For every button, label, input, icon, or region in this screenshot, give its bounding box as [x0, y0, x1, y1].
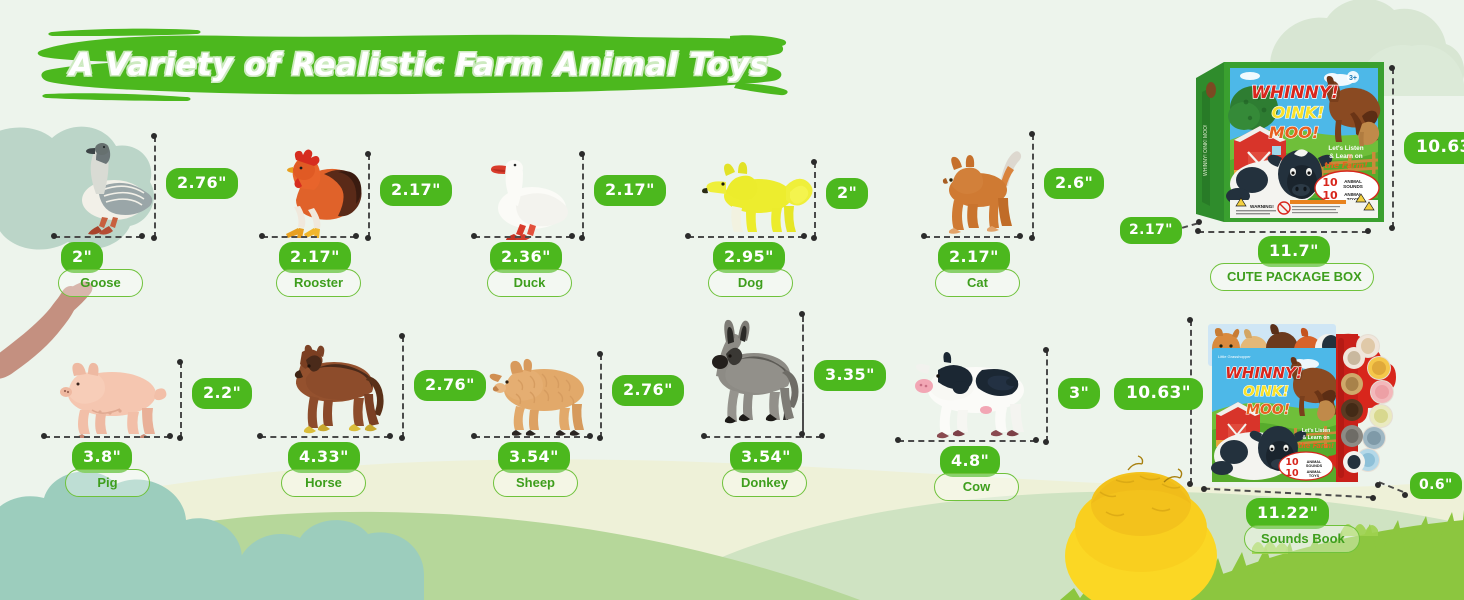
width-guide-sheep: [474, 436, 590, 438]
width-guide-duck: [474, 236, 572, 238]
guide-dot: [1187, 481, 1193, 487]
svg-text:WHINNY!: WHINNY!: [1225, 364, 1303, 382]
guide-dot: [1370, 495, 1376, 501]
svg-text:10: 10: [1322, 176, 1338, 189]
guide-dot: [177, 435, 183, 441]
goose-figure: [68, 138, 154, 236]
height-badge-goose: 2.76": [166, 168, 238, 199]
width-guide-horse: [260, 436, 390, 438]
sound-button-panel: [1328, 334, 1396, 482]
height-badge-pig: 2.2": [192, 378, 252, 409]
svg-text:SOUNDS: SOUNDS: [1306, 464, 1323, 468]
svg-text:OINK!: OINK!: [1243, 384, 1289, 400]
guide-dot: [701, 433, 707, 439]
width-guide-cat: [924, 236, 1020, 238]
svg-text:WHINNY! OINK! MOO!: WHINNY! OINK! MOO!: [1203, 125, 1209, 176]
guide-dot: [1196, 219, 1202, 225]
svg-text:Let's Listen: Let's Listen: [1328, 145, 1363, 152]
svg-text:MOO!: MOO!: [1269, 123, 1319, 142]
svg-text:the Farm!: the Farm!: [1298, 442, 1334, 450]
guide-dot: [685, 233, 691, 239]
svg-text:OINK!: OINK!: [1272, 103, 1325, 122]
horse-figure: [262, 334, 398, 438]
guide-dot: [597, 435, 603, 441]
guide-dot: [1029, 235, 1035, 241]
name-pill-goose: Goose: [58, 269, 143, 297]
name-pill-dog: Dog: [708, 269, 793, 297]
item-sheep: 2.76" 3.54" Sheep: [470, 330, 660, 495]
height-guide-goose: [154, 136, 156, 238]
guide-dot: [579, 151, 585, 157]
guide-dot: [151, 133, 157, 139]
height-guide-donkey-line: [802, 314, 804, 434]
depth-badge-box: 2.17": [1120, 217, 1182, 244]
guide-dot: [1195, 228, 1201, 234]
guide-dot: [1201, 486, 1207, 492]
item-pig: 2.2" 3.8" Pig: [40, 330, 225, 495]
guide-dot: [471, 233, 477, 239]
guide-dot: [799, 311, 805, 317]
guide-dot: [811, 159, 817, 165]
guide-dot: [51, 233, 57, 239]
item-horse: 2.76" 4.33" Horse: [256, 330, 456, 495]
guide-dot: [1017, 233, 1023, 239]
donkey-figure: [682, 312, 808, 438]
guide-dot: [811, 235, 817, 241]
product-sounds-book: Little Grasshopper: [1120, 306, 1464, 546]
guide-dot: [895, 437, 901, 443]
height-badge-rooster: 2.17": [380, 175, 452, 206]
hill-green-left: [0, 512, 860, 600]
guide-dot: [167, 433, 173, 439]
name-pill-duck: Duck: [487, 269, 572, 297]
guide-dot: [799, 431, 805, 437]
dog-figure: [696, 158, 814, 240]
guide-dot: [587, 433, 593, 439]
svg-text:Let's Listen: Let's Listen: [1302, 428, 1331, 434]
height-badge-book: 10.63": [1114, 378, 1203, 410]
name-pill-pig: Pig: [65, 469, 150, 497]
svg-text:MOO!: MOO!: [1246, 402, 1290, 418]
name-pill-cow: Cow: [934, 473, 1019, 501]
guide-dot: [399, 333, 405, 339]
guide-dot: [365, 151, 371, 157]
guide-dot: [1043, 347, 1049, 353]
guide-dot: [1033, 437, 1039, 443]
width-guide-pig: [44, 436, 170, 438]
sheep-figure: [476, 352, 600, 440]
item-goose: 2.76" 2" Goose: [44, 130, 214, 295]
guide-dot: [921, 233, 927, 239]
guide-dot: [1389, 225, 1395, 231]
svg-text:& Learn on: & Learn on: [1302, 435, 1329, 441]
sounds-book-figure: Little Grasshopper: [1202, 320, 1402, 496]
guide-dot: [259, 233, 265, 239]
page-title: A Variety of Realistic Farm Animal Toys: [36, 24, 788, 106]
svg-text:3+: 3+: [1349, 75, 1357, 82]
name-pill-sounds-book: Sounds Book: [1244, 525, 1360, 553]
width-guide-dog: [688, 236, 804, 238]
svg-text:WHINNY!: WHINNY!: [1251, 83, 1339, 103]
guide-dot: [365, 235, 371, 241]
guide-dot: [1187, 317, 1193, 323]
height-guide-box: [1392, 68, 1394, 228]
height-guide-dog: [814, 162, 816, 238]
guide-dot: [151, 235, 157, 241]
height-badge-duck: 2.17": [594, 175, 666, 206]
name-pill-sheep: Sheep: [493, 469, 578, 497]
name-pill-donkey: Donkey: [722, 469, 807, 497]
height-badge-cow: 3": [1058, 378, 1100, 409]
height-guide-sheep: [600, 354, 602, 438]
guide-dot: [569, 233, 575, 239]
package-box-figure: WHINNY! OINK! MOO! 3+: [1190, 56, 1390, 234]
rooster-figure: [268, 146, 364, 240]
svg-text:10: 10: [1285, 457, 1299, 468]
name-pill-package-box: CUTE PACKAGE BOX: [1210, 263, 1374, 291]
cow-figure: [898, 348, 1044, 440]
guide-dot: [399, 435, 405, 441]
guide-dot: [257, 433, 263, 439]
product-package-box: WHINNY! OINK! MOO! 3+: [1120, 46, 1464, 296]
guide-dot: [1365, 228, 1371, 234]
pig-figure: [44, 358, 176, 438]
item-dog: 2" 2.95" Dog: [684, 130, 874, 295]
height-badge-cat: 2.6": [1044, 168, 1104, 199]
guide-dot: [597, 351, 603, 357]
item-cow: 3" 4.8" Cow: [894, 330, 1094, 495]
height-guide-cow: [1046, 350, 1048, 442]
height-guide-horse: [402, 336, 404, 438]
height-guide-duck: [582, 154, 584, 238]
guide-dot: [139, 233, 145, 239]
svg-text:& Learn on: & Learn on: [1329, 153, 1362, 160]
width-guide-box: [1198, 231, 1368, 233]
duck-figure: [478, 152, 578, 240]
cat-figure: [930, 142, 1030, 238]
guide-dot: [471, 433, 477, 439]
svg-text:SOUNDS: SOUNDS: [1343, 184, 1363, 189]
item-rooster: 2.17" 2.17" Rooster: [258, 130, 438, 295]
height-badge-dog: 2": [826, 178, 868, 209]
item-cat: 2.6" 2.17" Cat: [920, 130, 1100, 295]
infographic-canvas: A Variety of Realistic Farm Animal Toys: [0, 0, 1464, 600]
svg-text:TOYS: TOYS: [1309, 474, 1320, 478]
height-badge-sheep: 2.76": [612, 375, 684, 406]
name-pill-cat: Cat: [935, 269, 1020, 297]
guide-dot: [579, 235, 585, 241]
guide-dot: [1389, 65, 1395, 71]
guide-dot: [353, 233, 359, 239]
name-pill-rooster: Rooster: [276, 269, 361, 297]
svg-text:Little Grasshopper: Little Grasshopper: [1218, 354, 1251, 359]
height-guide-rooster: [368, 154, 370, 238]
width-guide-rooster: [262, 236, 356, 238]
width-guide-cow: [898, 440, 1036, 442]
guide-dot: [41, 433, 47, 439]
guide-dot: [801, 233, 807, 239]
svg-text:the Farm!: the Farm!: [1324, 161, 1368, 170]
svg-text:WARNING!: WARNING!: [1250, 204, 1274, 209]
item-duck: 2.17" 2.36" Duck: [470, 130, 650, 295]
name-pill-horse: Horse: [281, 469, 366, 497]
height-guide-cat: [1032, 134, 1034, 238]
svg-text:10: 10: [1285, 468, 1299, 479]
height-badge-box: 10.63": [1404, 132, 1464, 164]
guide-dot: [1029, 131, 1035, 137]
depth-badge-book: 0.6": [1410, 472, 1462, 499]
guide-dot: [177, 359, 183, 365]
width-guide-goose: [54, 236, 142, 238]
guide-dot: [387, 433, 393, 439]
guide-dot: [1043, 439, 1049, 445]
title-banner: A Variety of Realistic Farm Animal Toys: [36, 24, 788, 106]
height-badge-donkey: 3.35": [814, 360, 886, 391]
donkey-height-group: 3.35": [798, 310, 908, 440]
guide-dot: [1402, 492, 1408, 498]
guide-dot: [1375, 482, 1381, 488]
height-guide-pig: [180, 362, 182, 438]
